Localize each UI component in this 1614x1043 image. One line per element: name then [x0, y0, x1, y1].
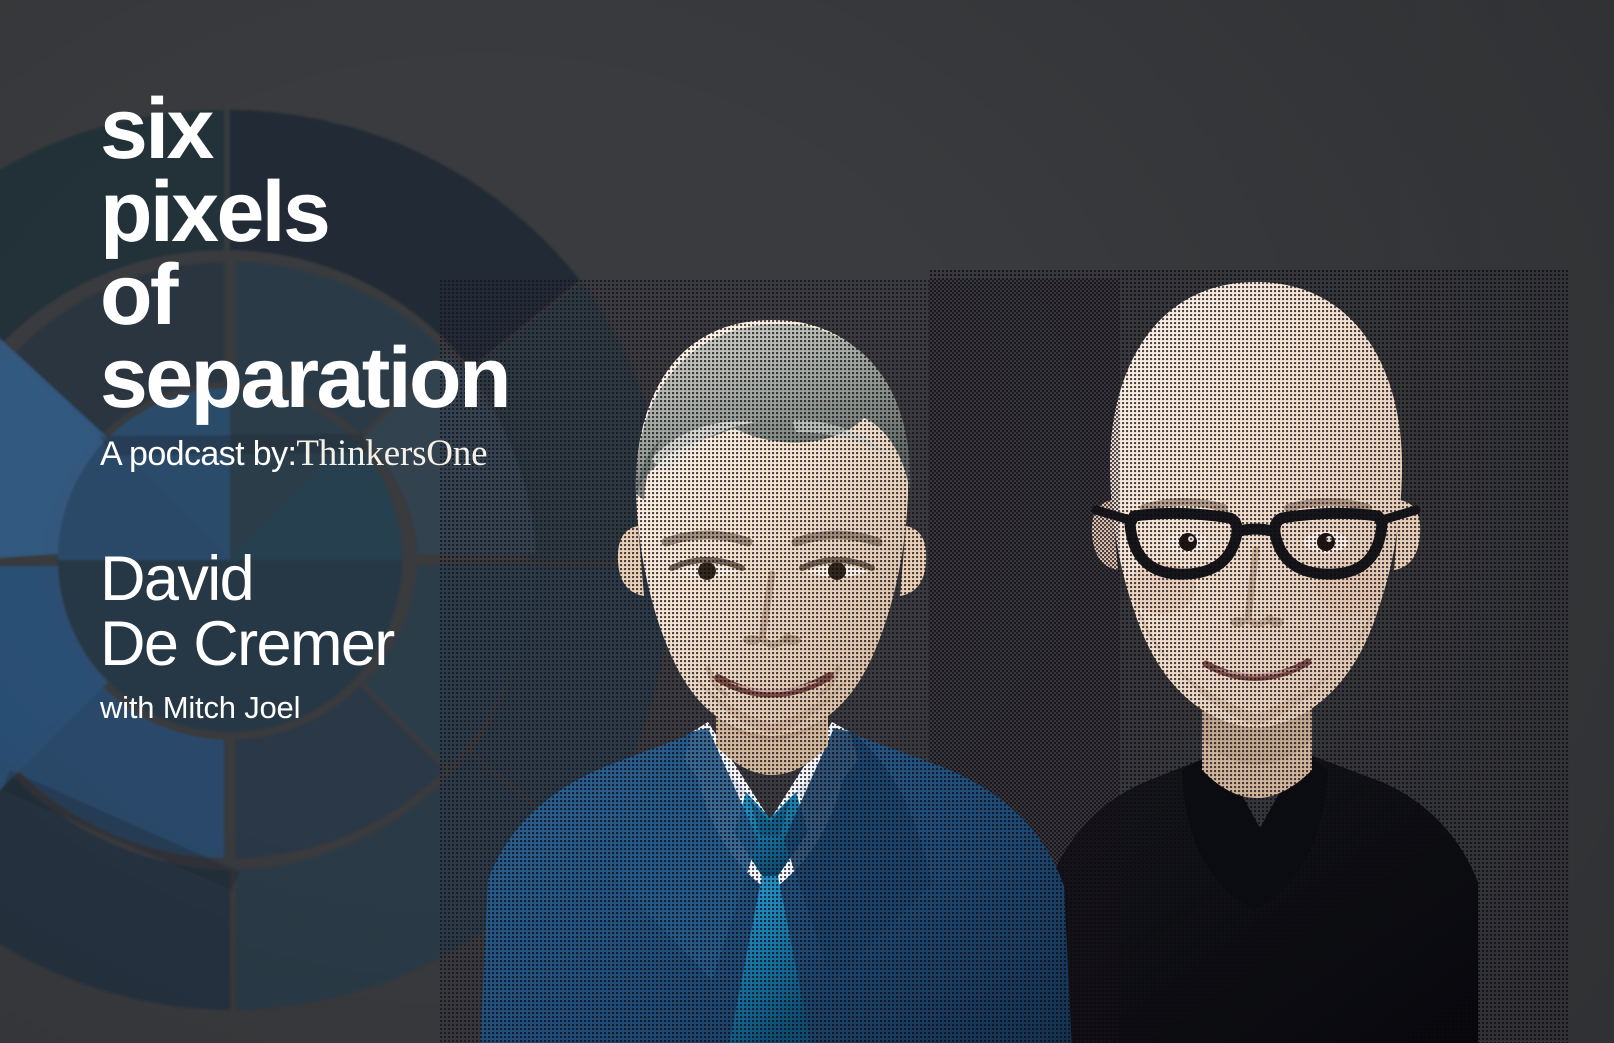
title-line-4: separation	[100, 337, 720, 420]
guest-name: David De Cremer	[100, 547, 720, 677]
title-line-2: pixels	[100, 171, 720, 254]
thinkersone-logo-text: ThinkersOne	[296, 433, 487, 474]
page-title: six pixels of separation	[100, 88, 720, 420]
title-line-1: six	[100, 88, 720, 171]
cover-text-block: six pixels of separation A podcast by:Th…	[100, 88, 720, 726]
podcast-cover-art: six pixels of separation A podcast by:Th…	[0, 0, 1614, 1043]
title-line-3: of	[100, 254, 720, 337]
guest-name-line-1: David	[100, 547, 720, 612]
host-credit: with Mitch Joel	[100, 690, 720, 726]
byline-prefix: A podcast by:	[100, 435, 296, 473]
byline: A podcast by:ThinkersOne	[100, 432, 720, 475]
guest-name-line-2: De Cremer	[100, 612, 720, 677]
